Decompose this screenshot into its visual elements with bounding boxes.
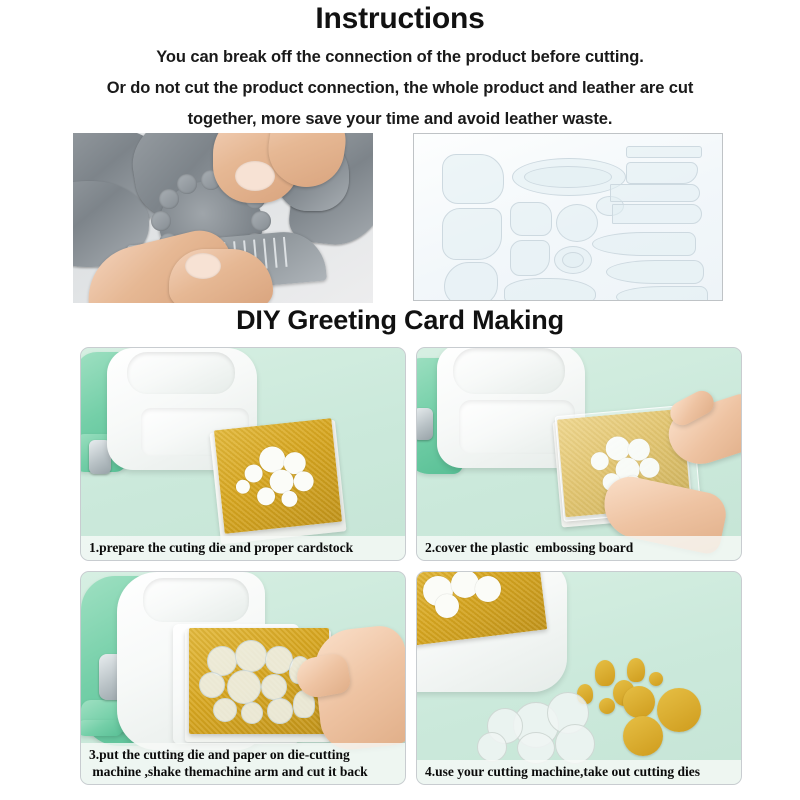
gold-cut-shape	[657, 688, 701, 732]
intro-line-3: together, more save your time and avoid …	[0, 104, 800, 135]
step-panel-2: 2.cover the plastic embossing board	[416, 347, 742, 561]
step-panel-4: 4.use your cutting machine,take out cutt…	[416, 571, 742, 785]
step-panel-1: 1.prepare the cuting die and proper card…	[80, 347, 406, 561]
intro-line-1: You can break off the connection of the …	[0, 42, 800, 73]
machine-handle	[453, 348, 565, 394]
silver-cutting-die	[477, 732, 507, 762]
top-photo-row	[73, 133, 723, 303]
step-caption-3: 3.put the cutting die and paper on die-c…	[81, 743, 405, 784]
gold-cut-shape	[595, 660, 615, 686]
step-caption-2: 2.cover the plastic embossing board	[417, 536, 741, 560]
step-panel-3: 3.put the cutting die and paper on die-c…	[80, 571, 406, 785]
silver-cutting-die	[555, 724, 595, 764]
step-caption-4: 4.use your cutting machine,take out cutt…	[417, 760, 741, 784]
cut-flower-shape	[435, 594, 459, 618]
gold-cut-shape	[649, 672, 663, 686]
gold-cut-shape	[599, 698, 615, 714]
machine-handle	[127, 352, 235, 394]
intro-line-2: Or do not cut the product connection, th…	[0, 73, 800, 104]
steps-grid: 1.prepare the cuting die and proper card…	[80, 347, 722, 799]
photo-hands-breaking-die-connection	[73, 133, 373, 303]
step-caption-1: 1.prepare the cuting die and proper card…	[81, 536, 405, 560]
gold-cardstock	[214, 418, 342, 534]
gold-cut-shape	[623, 716, 663, 756]
photo-die-cut-sheet-overview	[413, 133, 723, 301]
caption-line: 4.use your cutting machine,take out cutt…	[425, 763, 735, 780]
caption-line: machine ,shake themachine arm and cut it…	[89, 763, 399, 780]
gold-cut-shape	[623, 686, 655, 718]
cut-flower-shape	[475, 576, 501, 602]
caption-line: 2.cover the plastic embossing board	[425, 539, 735, 556]
page-title: Instructions	[0, 2, 800, 36]
caption-line: 3.put the cutting die and paper on die-c…	[89, 746, 399, 763]
intro-paragraph: You can break off the connection of the …	[0, 42, 800, 135]
machine-knob	[416, 408, 433, 440]
machine-lever	[80, 720, 123, 736]
machine-handle	[143, 578, 249, 622]
gold-cut-shape	[627, 658, 645, 682]
caption-line: 1.prepare the cuting die and proper card…	[89, 539, 399, 556]
section-title: DIY Greeting Card Making	[0, 305, 800, 336]
die-shape-sheet	[420, 140, 716, 294]
instructions-header: Instructions You can break off the conne…	[0, 0, 800, 135]
